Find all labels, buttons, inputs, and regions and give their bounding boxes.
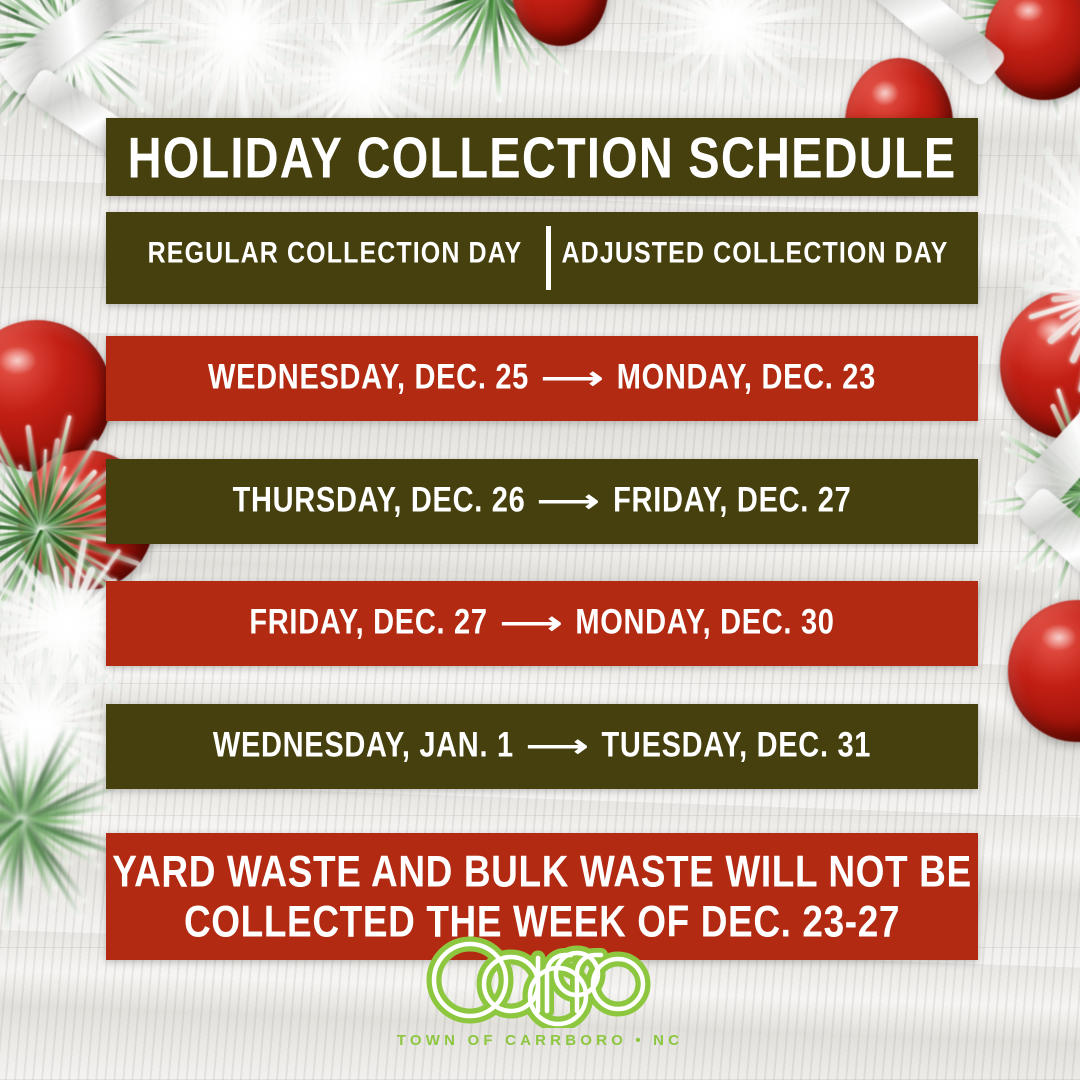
arrow-right-icon: ⟶ (517, 731, 598, 762)
schedule-bars: HOLIDAY COLLECTION SCHEDULE REGULAR COLL… (106, 0, 978, 1080)
carrboro-logo: TOWN OF CARRBORO • NC (0, 928, 1080, 1049)
column-header-regular: REGULAR COLLECTION DAY (124, 236, 546, 271)
row-adjusted-day: MONDAY, DEC. 30 (575, 604, 834, 644)
row-regular-day: FRIDAY, DEC. 27 (249, 604, 487, 644)
title-banner: HOLIDAY COLLECTION SCHEDULE (106, 118, 978, 196)
arrow-right-icon: ⟶ (491, 608, 572, 639)
arrow-right-icon: ⟶ (529, 486, 610, 517)
arrow-right-icon: ⟶ (532, 363, 613, 394)
carrboro-wordmark-icon (425, 928, 655, 1028)
schedule-row: WEDNESDAY, DEC. 25 ⟶ MONDAY, DEC. 23 (106, 336, 978, 421)
holiday-collection-poster: HOLIDAY COLLECTION SCHEDULE REGULAR COLL… (0, 0, 1080, 1080)
row-regular-day: WEDNESDAY, JAN. 1 (213, 727, 514, 767)
row-adjusted-day: MONDAY, DEC. 23 (617, 359, 876, 399)
schedule-row: WEDNESDAY, JAN. 1 ⟶ TUESDAY, DEC. 31 (106, 704, 978, 789)
schedule-row: THURSDAY, DEC. 26 ⟶ FRIDAY, DEC. 27 (106, 459, 978, 544)
row-adjusted-day: FRIDAY, DEC. 27 (613, 482, 851, 522)
page-title: HOLIDAY COLLECTION SCHEDULE (128, 123, 957, 190)
row-regular-day: WEDNESDAY, DEC. 25 (208, 359, 529, 399)
logo-tagline: TOWN OF CARRBORO • NC (397, 1032, 684, 1049)
row-regular-day: THURSDAY, DEC. 26 (233, 482, 526, 522)
column-header-banner: REGULAR COLLECTION DAY ADJUSTED COLLECTI… (106, 212, 978, 304)
column-header-adjusted: ADJUSTED COLLECTION DAY (544, 236, 966, 271)
schedule-row: FRIDAY, DEC. 27 ⟶ MONDAY, DEC. 30 (106, 581, 978, 666)
row-adjusted-day: TUESDAY, DEC. 31 (602, 727, 872, 767)
